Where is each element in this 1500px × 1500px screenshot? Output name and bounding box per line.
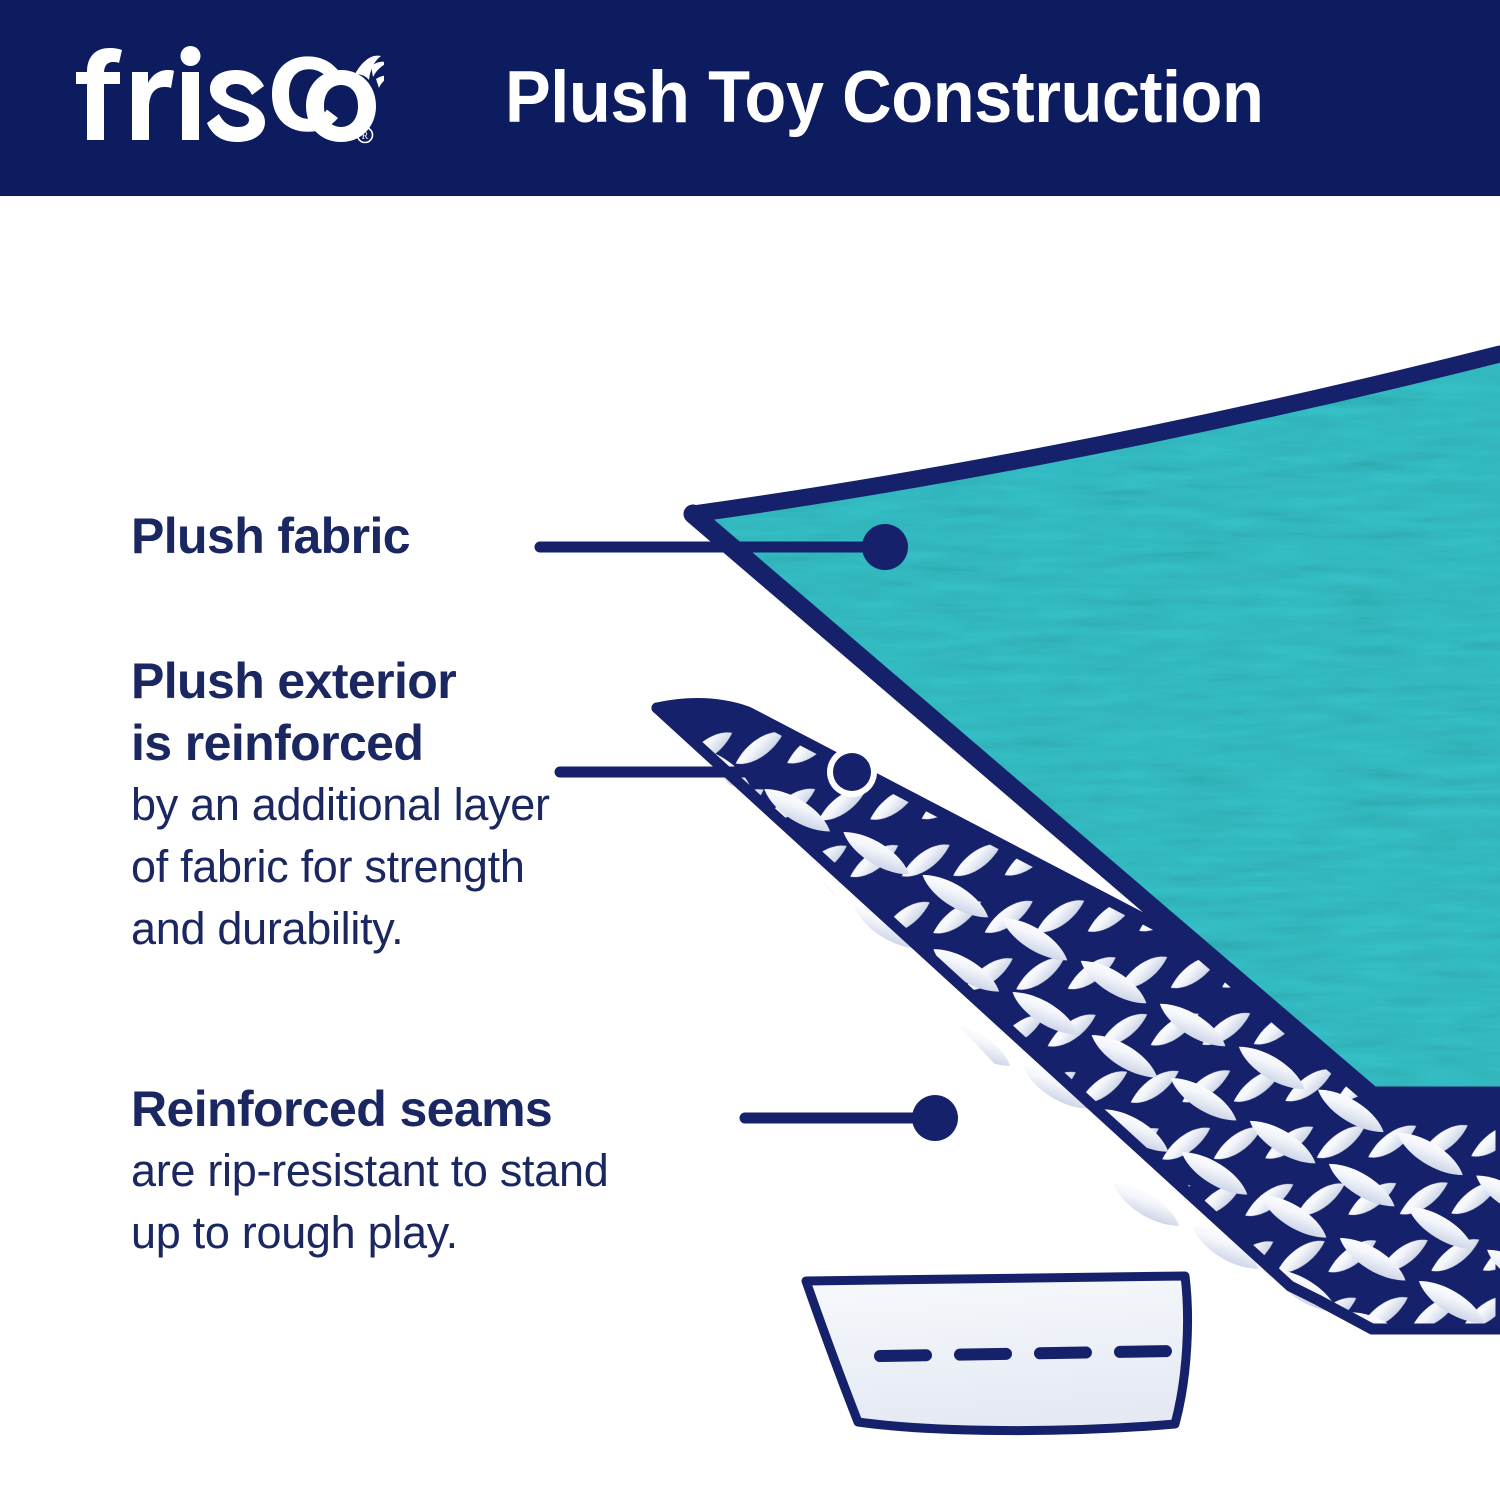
svg-text:R: R bbox=[362, 131, 369, 142]
callout-plush-exterior-heading: Plush exterior is reinforced bbox=[131, 650, 550, 774]
infographic-page: R Plush Toy Construction bbox=[0, 0, 1500, 1500]
frisco-logo: R bbox=[74, 44, 384, 152]
callout-reinforced-seams: Reinforced seams are rip-resistant to st… bbox=[131, 1078, 608, 1264]
callout-plush-exterior: Plush exterior is reinforced by an addit… bbox=[131, 650, 550, 960]
page-header: R Plush Toy Construction bbox=[0, 0, 1500, 196]
callout-reinforced-seams-heading: Reinforced seams bbox=[131, 1078, 608, 1140]
page-title: Plush Toy Construction bbox=[505, 50, 1263, 146]
reinforced-seam-flap bbox=[806, 1276, 1188, 1431]
callout-plush-fabric: Plush fabric bbox=[131, 505, 410, 567]
callout-plush-fabric-heading: Plush fabric bbox=[131, 505, 410, 567]
callout-reinforced-seams-body: are rip-resistant to stand up to rough p… bbox=[131, 1140, 608, 1264]
leader-reinforced-seams bbox=[745, 1095, 958, 1141]
callout-plush-exterior-body: by an additional layer of fabric for str… bbox=[131, 774, 550, 960]
